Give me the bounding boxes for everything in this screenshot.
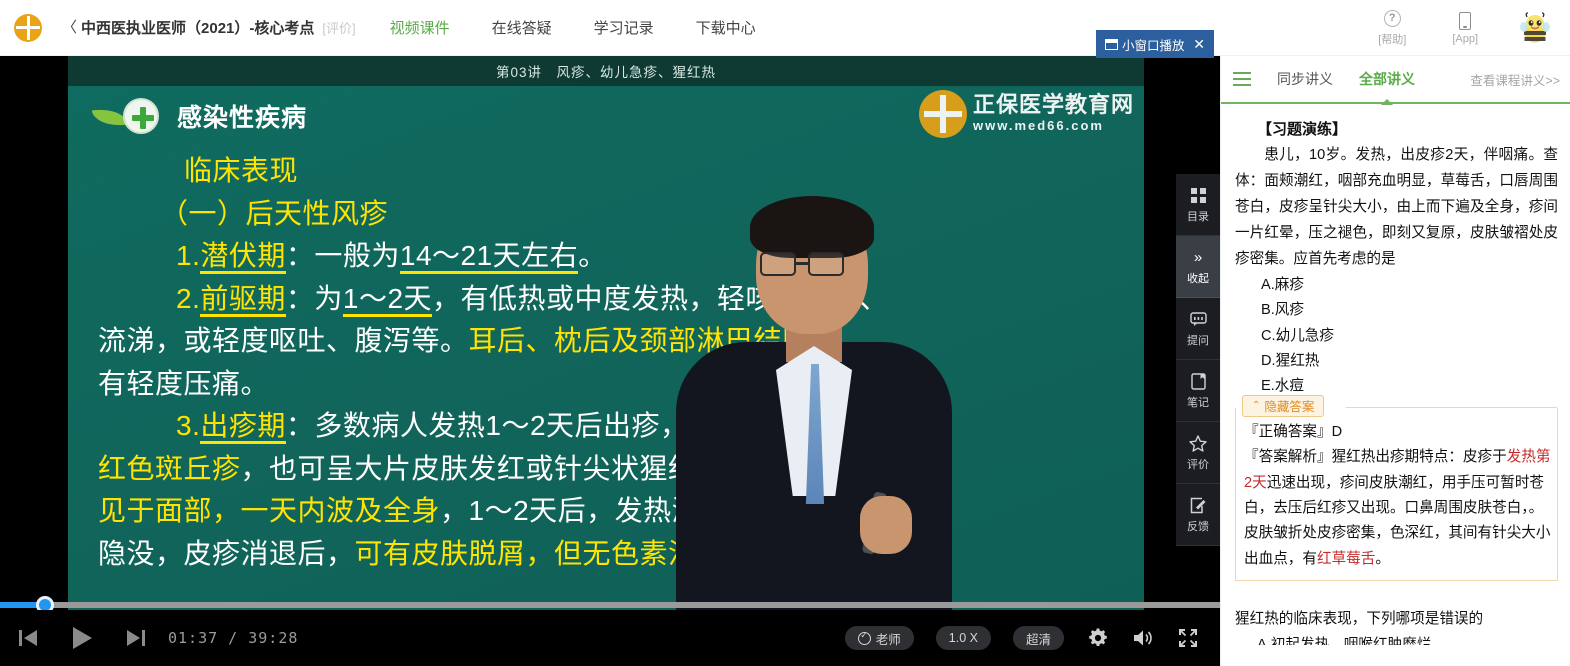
watermark-url: www.med66.com (973, 118, 1134, 135)
correct-answer-line: 『正确答案』D (1244, 420, 1551, 445)
chevron-left-icon[interactable]: 〈 (62, 20, 77, 35)
med66-cross-logo-icon (919, 90, 967, 138)
question-mark-icon: ? (1384, 9, 1401, 29)
edit-square-icon (1190, 496, 1207, 516)
answer-box: ⌃ 隐藏答案 『正确答案』D 『答案解析』猩红热出疹期特点：皮疹于发热第2天迅速… (1235, 408, 1558, 581)
explanation-part-3: 。 (1375, 551, 1390, 567)
exercise-title: 【习题演练】 (1257, 118, 1558, 139)
slide-text: ：一般为 (286, 240, 400, 271)
rail-item-feedback[interactable]: 反馈 (1176, 484, 1220, 546)
course-eval-link[interactable]: [评价] (322, 18, 355, 37)
nav-tab-record[interactable]: 学习记录 (594, 17, 654, 38)
answer-box-rule (1346, 407, 1557, 408)
video-player[interactable]: 第03讲 风疹、幼儿急疹、猩红热 感染性疾病 临床表现 （一）后天性风疹 1.潜… (0, 56, 1220, 666)
main-nav: 视频课件 在线答疑 学习记录 下载中心 (390, 17, 798, 38)
lecture-slide: 感染性疾病 临床表现 （一）后天性风疹 1.潜伏期：一般为14～21天左右。 2… (68, 86, 1144, 666)
gear-icon[interactable] (1088, 628, 1108, 648)
header-actions: ? [帮助] [App] (1332, 9, 1570, 47)
previous-track-icon[interactable] (12, 622, 44, 654)
rail-label: 反馈 (1187, 518, 1209, 534)
next-track-icon[interactable] (120, 622, 152, 654)
speech-bubble-icon (1190, 310, 1207, 330)
playback-speed-button[interactable]: 1.0 X (936, 626, 991, 650)
slide-text: 1. (176, 240, 200, 271)
option-b[interactable]: B.风疹 (1261, 298, 1558, 323)
slide-text: 红色斑丘疹 (98, 453, 241, 484)
progress-bar[interactable] (0, 600, 1220, 610)
slide-text: ：多数病人发热1～2天后出疹，皮疹多为淡 (286, 410, 831, 441)
player-controls: 01:37 / 39:28 老师 1.0 X 超清 (0, 610, 1220, 666)
question-text: 患儿，10岁。发热，出皮疹2天，伴咽痛。查体：面颊潮红，咽部充血明显，草莓舌，口… (1235, 143, 1558, 273)
next-question-text: 猩红热的临床表现，下列哪项是错误的 (1235, 607, 1558, 632)
cross-circle-logo-icon (14, 14, 42, 42)
lecture-title-bar: 第03讲 风疹、幼儿急疹、猩红热 (68, 56, 1144, 86)
view-course-handout-link[interactable]: 查看课程讲义>> (1470, 70, 1560, 89)
site-logo[interactable] (0, 14, 56, 42)
top-header: 〈 中西医执业医师（2021）-核心考点 [评价] 视频课件 在线答疑 学习记录… (0, 0, 1570, 56)
notebook-icon (1191, 372, 1206, 392)
hamburger-menu-icon[interactable] (1233, 69, 1251, 90)
nav-tab-download[interactable]: 下载中心 (696, 17, 756, 38)
slide-text: ，1～2天后，发热渐退，皮疹 (440, 495, 814, 526)
next-question-option-a: A.初起发热，咽喉红肿糜烂 (1257, 633, 1558, 645)
slide-text: 潜伏期 (200, 240, 286, 274)
rail-item-rating[interactable]: 评价 (1176, 422, 1220, 484)
app-label: [App] (1452, 33, 1478, 45)
rail-item-ask[interactable]: 提问 (1176, 298, 1220, 360)
slide-text: ：为 (286, 283, 343, 314)
slide-text: 1～2天 (343, 283, 432, 317)
explanation-label: 『答案解析』 (1244, 449, 1332, 465)
rail-label: 收起 (1187, 270, 1209, 286)
handout-panel-header: 同步讲义 全部讲义 查看课程讲义>> (1221, 56, 1570, 104)
slide-text: （一）后天性风疹 (160, 198, 388, 229)
mini-window-label: 小窗口播放 (1122, 35, 1185, 54)
slide-text: ，也可呈大片皮肤发红或针尖状猩红热样皮疹 (241, 453, 811, 484)
slide-header: 感染性疾病 (93, 98, 307, 134)
rail-label: 提问 (1187, 332, 1209, 348)
course-title: 中西医执业医师（2021）-核心考点 (81, 17, 314, 38)
slide-text: 临床表现 (184, 155, 298, 186)
slide-text: 有轻度压痛。 (98, 368, 269, 399)
slide-text: 出疹期 (200, 410, 286, 444)
slide-header-text: 感染性疾病 (177, 98, 307, 134)
answer-explanation: 『答案解析』猩红热出疹期特点：皮疹于发热第2天迅速出现，疹间皮肤潮红，用手压可暂… (1244, 445, 1551, 572)
chevron-double-right-icon: » (1194, 248, 1202, 268)
slide-text: 耳后、枕后及颈部淋巴结肿大， (469, 325, 868, 356)
play-icon[interactable] (64, 620, 100, 656)
close-icon[interactable]: ✕ (1193, 36, 1205, 53)
progress-track[interactable] (0, 602, 1220, 608)
player-right-controls: 老师 1.0 X 超清 (823, 626, 1220, 650)
fullscreen-icon[interactable] (1178, 628, 1198, 648)
rail-label: 笔记 (1187, 394, 1209, 410)
mobile-phone-icon (1459, 11, 1471, 31)
teacher-label: 老师 (876, 629, 901, 648)
slide-text: 流涕，或轻度呕吐、腹泻等。 (98, 325, 469, 356)
nav-tab-video[interactable]: 视频课件 (390, 17, 450, 38)
correct-answer-value: D (1332, 424, 1343, 440)
video-side-rail: 目录 » 收起 提问 笔记 评价 (1176, 174, 1220, 546)
help-label: [帮助] (1378, 31, 1406, 47)
green-cross-icon (123, 98, 159, 134)
hide-answer-button[interactable]: ⌃ 隐藏答案 (1242, 395, 1324, 417)
slide-body: 临床表现 （一）后天性风疹 1.潜伏期：一般为14～21天左右。 2.前驱期：为… (98, 150, 1120, 575)
star-icon (1189, 434, 1207, 454)
time-display: 01:37 / 39:28 (168, 629, 298, 647)
option-d[interactable]: D.猩红热 (1261, 349, 1558, 374)
explanation-part-2: 迅速出现，疹间皮肤潮红，用手压可暂时苍白，去压后红疹又出现。口鼻周围皮肤苍白，。… (1244, 475, 1550, 567)
slide-text: 2. (176, 283, 200, 314)
tab-sync-handout[interactable]: 同步讲义 (1277, 69, 1333, 89)
handout-content: 【习题演练】 患儿，10岁。发热，出皮疹2天，伴咽痛。查体：面颊潮红，咽部充血明… (1221, 104, 1570, 666)
window-restore-icon (1105, 39, 1118, 50)
watermark-title: 正保医学教育网 (973, 93, 1134, 117)
slide-text: 14～21天左右 (400, 240, 578, 274)
handout-panel: 同步讲义 全部讲义 查看课程讲义>> 【习题演练】 患儿，10岁。发热，出皮疹2… (1220, 56, 1570, 666)
teacher-selector-button[interactable]: 老师 (845, 626, 914, 650)
slide-text: 见于面部，一天内波及全身 (98, 495, 440, 526)
app-button[interactable]: [App] (1452, 11, 1478, 45)
slide-text: 3. (176, 410, 200, 441)
option-a[interactable]: A.麻疹 (1261, 273, 1558, 298)
nav-tab-qa[interactable]: 在线答疑 (492, 17, 552, 38)
hide-answer-label: 隐藏答案 (1264, 396, 1314, 415)
site-watermark: 正保医学教育网 www.med66.com (919, 90, 1134, 138)
rail-item-catalog[interactable]: 目录 (1176, 174, 1220, 236)
video-course-page: 〈 中西医执业医师（2021）-核心考点 [评价] 视频课件 在线答疑 学习记录… (0, 0, 1570, 666)
bee-avatar-icon[interactable] (1518, 11, 1552, 45)
slide-text: 隐没，皮疹消退后， (98, 538, 355, 569)
chevron-up-icon: ⌃ (1252, 400, 1260, 411)
option-c[interactable]: C.幼儿急疹 (1261, 324, 1558, 349)
rail-item-notes[interactable]: 笔记 (1176, 360, 1220, 422)
correct-answer-label: 『正确答案』 (1244, 424, 1332, 440)
slide-text: 可有皮肤脱屑，但无色素沉着。 (355, 538, 754, 569)
grid-dots-icon (1191, 186, 1206, 206)
help-button[interactable]: ? [帮助] (1378, 9, 1406, 47)
tab-all-handout[interactable]: 全部讲义 (1359, 69, 1415, 89)
slide-text: 前驱期 (200, 283, 286, 317)
mini-window-playback-button[interactable]: 小窗口播放 ✕ (1096, 30, 1214, 58)
check-circle-icon (858, 632, 871, 645)
rail-label: 目录 (1187, 208, 1209, 224)
slide-text: ，有低热或中度发热，轻咳、咽痛、 (432, 283, 888, 314)
rail-label: 评价 (1187, 456, 1209, 472)
video-quality-button[interactable]: 超清 (1013, 626, 1064, 650)
rail-item-collapse[interactable]: » 收起 (1176, 236, 1220, 298)
volume-icon[interactable] (1132, 628, 1154, 648)
explanation-highlight-2: 红草莓舌 (1317, 551, 1375, 567)
slide-text: 。 (578, 240, 607, 271)
explanation-part-1: 猩红热出疹期特点：皮疹于 (1332, 449, 1507, 465)
